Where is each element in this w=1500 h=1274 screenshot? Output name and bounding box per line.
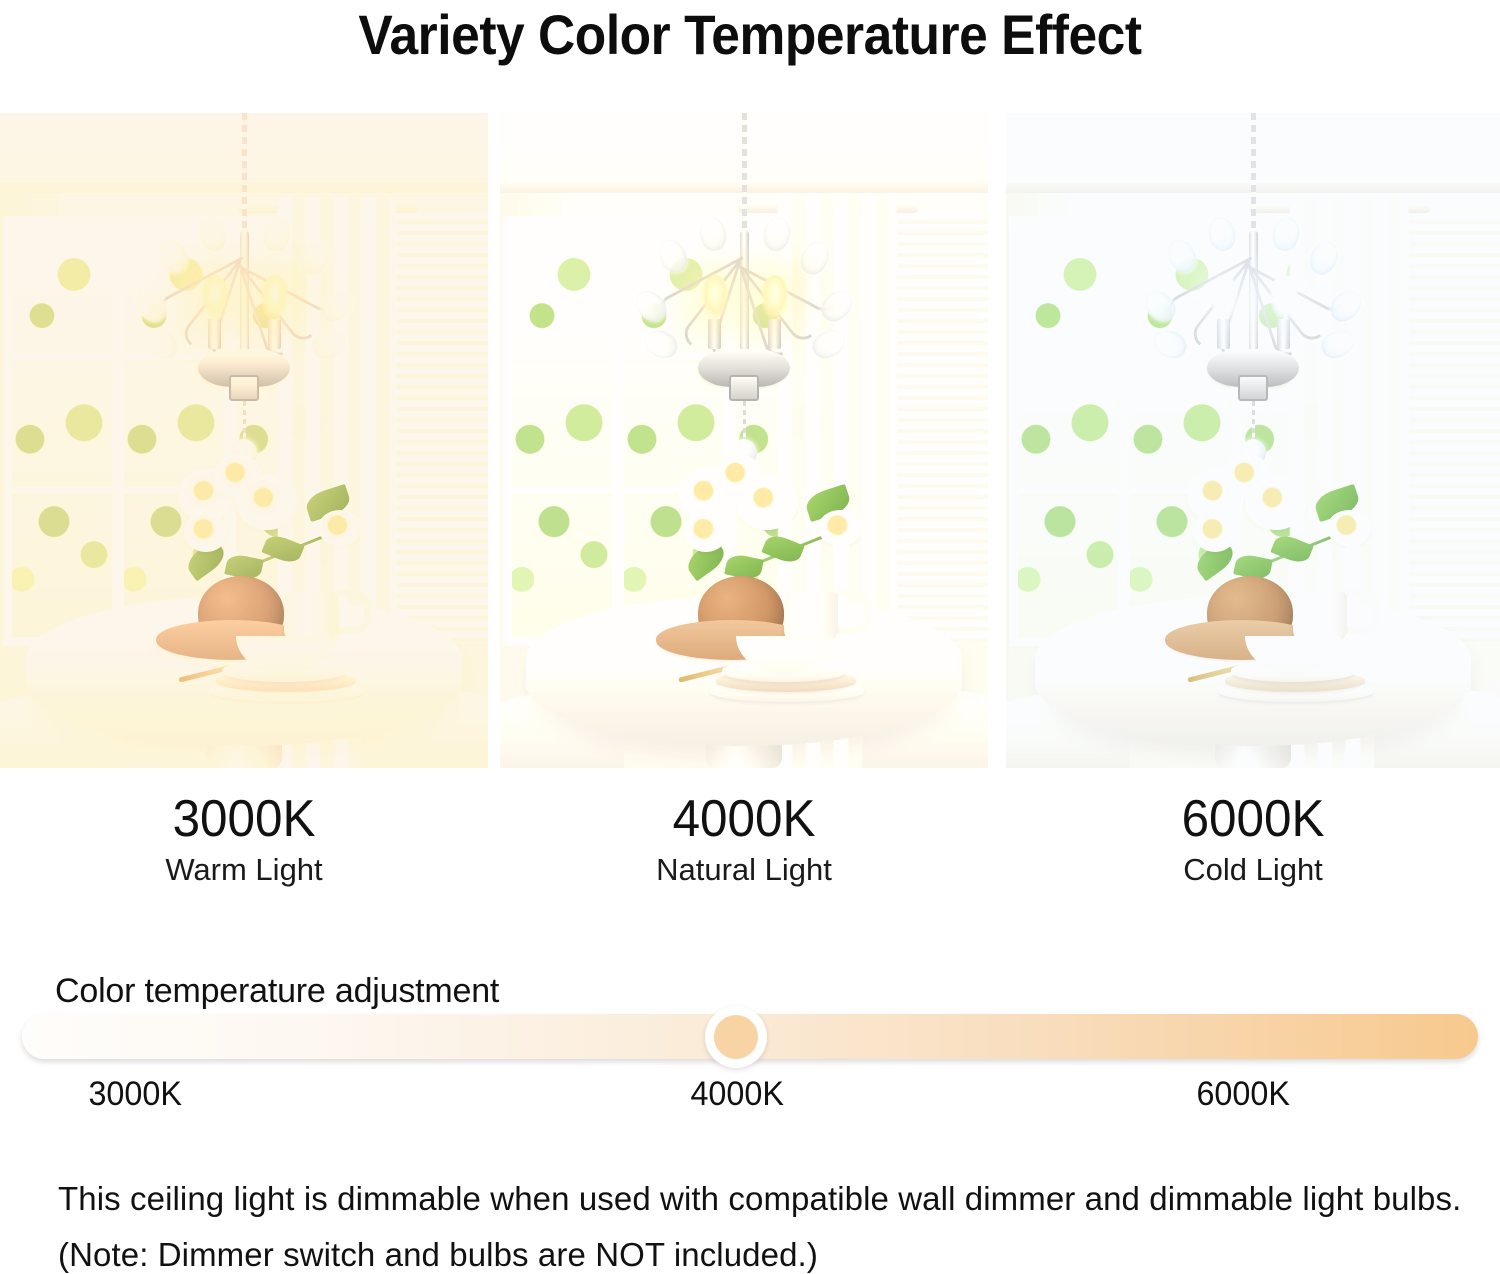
caption-6000k: 6000K Cold Light (1006, 790, 1500, 890)
kelvin-value: 4000K (512, 790, 976, 848)
window-blinds (1404, 213, 1500, 643)
rose-flower (1245, 474, 1307, 530)
chandelier-hub (729, 375, 759, 401)
ceramic-mug (1293, 592, 1347, 642)
crystal-bud (816, 285, 859, 327)
color-temperature-slider-knob[interactable] (705, 1006, 767, 1068)
light-bulb (1209, 275, 1239, 321)
light-type-label: Cold Light (1006, 850, 1500, 890)
page-title: Variety Color Temperature Effect (60, 2, 1440, 67)
kelvin-value: 3000K (12, 790, 476, 848)
dimmable-note: This ceiling light is dimmable when used… (58, 1180, 1461, 1218)
crystal-bud (1270, 215, 1303, 254)
slider-label: Color temperature adjustment (55, 972, 499, 1011)
window-blinds (892, 213, 988, 643)
window-sash (508, 221, 616, 641)
room-scene-warm (0, 113, 488, 768)
light-bulb (760, 275, 790, 321)
window-sash (8, 221, 116, 641)
chandelier-hub (1238, 375, 1268, 401)
light-bulb (700, 275, 730, 321)
light-type-label: Natural Light (500, 850, 988, 890)
bulb-socket (1217, 319, 1230, 349)
crystal-bud (296, 237, 334, 279)
caption-3000k: 3000K Warm Light (0, 790, 488, 890)
rose-flower (318, 510, 362, 546)
panel-6000k (1006, 113, 1500, 768)
crystal-bud (197, 215, 230, 254)
light-bulb (1269, 275, 1299, 321)
room-scene-natural (500, 113, 988, 768)
bulb-socket (1277, 319, 1290, 349)
crystal-bud (316, 285, 359, 327)
crystal-bud (761, 215, 794, 254)
finial-chain (1252, 401, 1255, 443)
color-temperature-panels (0, 113, 1500, 768)
slider-tick-3000k: 3000K (88, 1075, 181, 1114)
crystal-bud (140, 325, 182, 363)
finial-chain (743, 401, 746, 443)
rose-flower (1193, 512, 1237, 552)
rose-flower (184, 512, 228, 552)
chandelier-chain (242, 113, 247, 233)
slider-tick-4000k: 4000K (690, 1075, 783, 1114)
light-bulb (200, 275, 230, 321)
mug-handle (836, 590, 871, 634)
window-blinds (392, 213, 488, 643)
crystal-bud (808, 325, 850, 363)
slider-tick-6000k: 6000K (1196, 1075, 1289, 1114)
ceramic-mug (784, 592, 838, 642)
crystal-bud (1163, 235, 1201, 277)
panel-3000k (0, 113, 488, 768)
panel-4000k (500, 113, 988, 768)
light-type-label: Warm Light (0, 850, 488, 890)
mug-handle (1345, 590, 1380, 634)
crystal-bud (1149, 325, 1191, 363)
crystal-bud (1317, 325, 1359, 363)
crystal-bud (154, 235, 192, 277)
bulb-socket (708, 319, 721, 349)
crystal-bud (261, 215, 294, 254)
bulb-socket (768, 319, 781, 349)
crystal-bud (308, 325, 350, 363)
exclusion-note: (Note: Dimmer switch and bulbs are NOT i… (58, 1236, 818, 1274)
crystal-bud (697, 215, 730, 254)
mug-handle (336, 590, 371, 634)
crystal-bud (1305, 237, 1343, 279)
crystal-bud (1139, 285, 1182, 327)
ceramic-mug (284, 592, 338, 642)
rose-flower (818, 510, 862, 546)
bulb-socket (208, 319, 221, 349)
crystal-bud (130, 285, 173, 327)
crystal-bud (796, 237, 834, 279)
window-sash (1014, 221, 1122, 641)
caption-4000k: 4000K Natural Light (500, 790, 988, 890)
crystal-bud (1206, 215, 1239, 254)
chandelier-chain (742, 113, 747, 233)
crystal-bud (630, 285, 673, 327)
kelvin-value: 6000K (1018, 790, 1487, 848)
chandelier-chain (1251, 113, 1256, 233)
bulb-socket (268, 319, 281, 349)
chandelier-hub (229, 375, 259, 401)
rose-flower (736, 474, 798, 530)
rose-flower (236, 474, 298, 530)
crystal-bud (640, 325, 682, 363)
rose-flower (1327, 510, 1371, 546)
crystal-bud (654, 235, 692, 277)
rose-flower (684, 512, 728, 552)
room-scene-cold (1006, 113, 1500, 768)
slider-knob-inner (714, 1015, 758, 1059)
finial-chain (243, 401, 246, 443)
light-bulb (260, 275, 290, 321)
crystal-bud (1325, 285, 1368, 327)
